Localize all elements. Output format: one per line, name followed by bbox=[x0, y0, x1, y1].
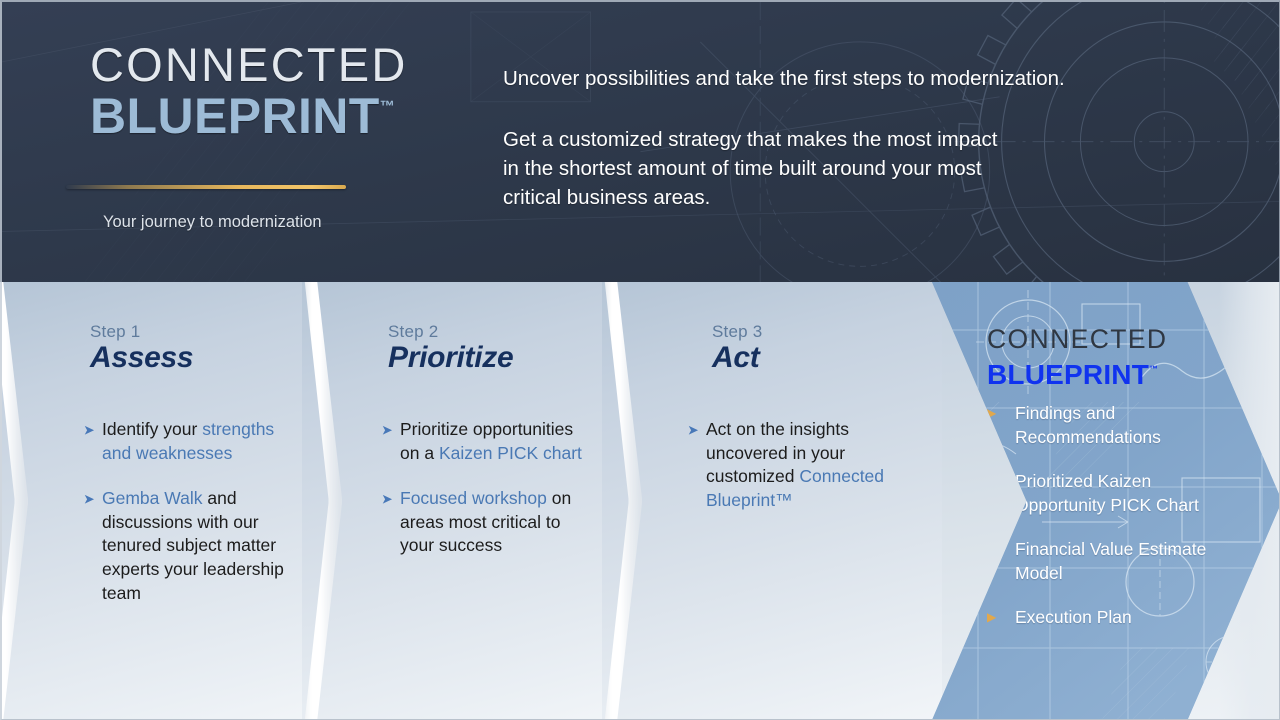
deliverables-brand-logo: CONNECTED BLUEPRINT™ bbox=[987, 324, 1167, 395]
deliverable-item: ▶Prioritized Kaizen Opportunity PICK Cha… bbox=[987, 470, 1237, 517]
deliverables-logo-connected: CONNECTED bbox=[987, 324, 1167, 354]
deliverable-label: Prioritized Kaizen Opportunity PICK Char… bbox=[1015, 470, 1237, 517]
header-paragraph-2-line-3: critical business areas. bbox=[503, 186, 710, 209]
step-title: Assess bbox=[90, 340, 332, 376]
deliverables-list: ▶Findings and Recommendations▶Prioritize… bbox=[987, 402, 1237, 651]
step-bullet-text: Focused workshop on areas most critical … bbox=[400, 487, 596, 558]
header-copy-block: Uncover possibilities and take the first… bbox=[503, 64, 1203, 212]
deliverable-label: Execution Plan bbox=[1015, 606, 1237, 630]
deliverable-arrow-icon: ▶ bbox=[987, 470, 1015, 517]
deliverable-item: ▶Findings and Recommendations bbox=[987, 402, 1237, 449]
deliverable-arrow-icon: ▶ bbox=[987, 402, 1015, 449]
step-bullet-text: Identify your strengths and weaknesses bbox=[102, 418, 298, 465]
brand-logo-blueprint: BLUEPRINT bbox=[90, 88, 380, 144]
step-title: Act bbox=[712, 340, 942, 376]
brand-logo-connected: CONNECTED bbox=[90, 40, 490, 89]
bullet-arrow-icon: ➤ bbox=[82, 418, 102, 465]
process-steps-area: Step 1 Assess ➤Identify your strengths a… bbox=[0, 282, 1280, 720]
header-banner: CONNECTED BLUEPRINT™ Your journey to mod… bbox=[0, 0, 1280, 282]
step-bullet: ➤Focused workshop on areas most critical… bbox=[380, 487, 632, 558]
deliverable-item: ▶Execution Plan bbox=[987, 606, 1237, 630]
step-bullet-text: Gemba Walk and discussions with our tenu… bbox=[102, 487, 298, 605]
step-bullet-list: ➤Act on the insights uncovered in your c… bbox=[602, 418, 942, 534]
deliverable-item: ▶Financial Value Estimate Model bbox=[987, 538, 1237, 585]
step-panel-2[interactable]: Step 2 Prioritize ➤Prioritize opportunit… bbox=[302, 282, 632, 720]
deliverable-label: Financial Value Estimate Model bbox=[1015, 538, 1237, 585]
deliverables-logo-blueprint: BLUEPRINT bbox=[987, 359, 1149, 390]
deliverables-panel[interactable]: 98 CONNECTED BLUEPRINT™ ▶Findings and Re… bbox=[932, 282, 1280, 720]
step-number-label: Step 2 bbox=[388, 322, 632, 342]
step-number-label: Step 1 bbox=[90, 322, 332, 342]
highlighted-phrase: Kaizen PICK chart bbox=[439, 443, 582, 463]
brand-logo: CONNECTED BLUEPRINT™ bbox=[90, 40, 490, 141]
bullet-arrow-icon: ➤ bbox=[686, 418, 706, 512]
header-paragraph-2-line-1: Get a customized strategy that makes the… bbox=[503, 128, 997, 151]
step-bullet: ➤Gemba Walk and discussions with our ten… bbox=[82, 487, 332, 605]
highlighted-phrase: Focused workshop bbox=[400, 488, 547, 508]
trademark-symbol: ™ bbox=[1149, 364, 1158, 374]
step-panel-1[interactable]: Step 1 Assess ➤Identify your strengths a… bbox=[2, 282, 332, 720]
step-panel-3[interactable]: Step 3 Act ➤Act on the insights uncovere… bbox=[602, 282, 942, 720]
header-paragraph-1: Uncover possibilities and take the first… bbox=[503, 64, 1203, 93]
header-paragraph-2: Get a customized strategy that makes the… bbox=[503, 125, 1203, 212]
svg-text:98: 98 bbox=[968, 538, 982, 551]
brand-tagline: Your journey to modernization bbox=[103, 213, 322, 232]
step-bullet-list: ➤Prioritize opportunities on a Kaizen PI… bbox=[302, 418, 632, 580]
step-number-label: Step 3 bbox=[712, 322, 942, 342]
deliverable-arrow-icon: ▶ bbox=[987, 538, 1015, 585]
step-title: Prioritize bbox=[388, 340, 632, 376]
deliverable-arrow-icon: ▶ bbox=[987, 606, 1015, 630]
trademark-symbol: ™ bbox=[380, 98, 395, 115]
step-bullet: ➤Act on the insights uncovered in your c… bbox=[686, 418, 942, 512]
header-paragraph-2-line-2: in the shortest amount of time built aro… bbox=[503, 157, 982, 180]
plain-phrase: Identify your bbox=[102, 419, 202, 439]
bullet-arrow-icon: ➤ bbox=[380, 418, 400, 465]
step-bullet-list: ➤Identify your strengths and weaknesses➤… bbox=[2, 418, 332, 627]
step-bullet-text: Act on the insights uncovered in your cu… bbox=[706, 418, 902, 512]
slide-canvas: CONNECTED BLUEPRINT™ Your journey to mod… bbox=[0, 0, 1280, 720]
bullet-arrow-icon: ➤ bbox=[380, 487, 400, 558]
bullet-arrow-icon: ➤ bbox=[82, 487, 102, 605]
highlighted-phrase: Gemba Walk bbox=[102, 488, 203, 508]
gold-divider-rule bbox=[66, 185, 346, 189]
step-bullet: ➤Prioritize opportunities on a Kaizen PI… bbox=[380, 418, 632, 465]
deliverable-label: Findings and Recommendations bbox=[1015, 402, 1237, 449]
step-bullet: ➤Identify your strengths and weaknesses bbox=[82, 418, 332, 465]
step-bullet-text: Prioritize opportunities on a Kaizen PIC… bbox=[400, 418, 596, 465]
